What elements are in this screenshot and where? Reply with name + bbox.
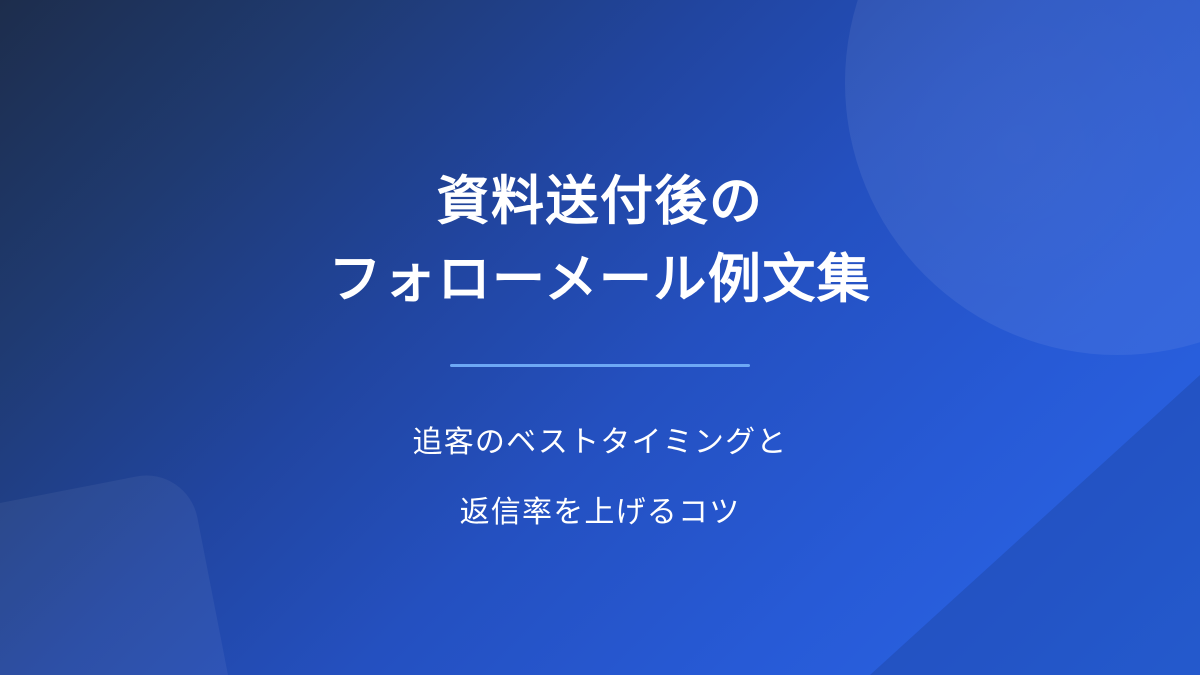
page-title: 資料送付後の フォローメール例文集 <box>329 163 872 319</box>
title-line-1: 資料送付後の <box>436 163 763 241</box>
page-subtitle: 追客のベストタイミングと 返信率を上げるコツ <box>413 408 788 548</box>
title-divider <box>450 364 750 367</box>
title-slide: 資料送付後の フォローメール例文集 追客のベストタイミングと 返信率を上げるコツ <box>0 0 1200 675</box>
slide-content: 資料送付後の フォローメール例文集 追客のベストタイミングと 返信率を上げるコツ <box>0 0 1200 675</box>
subtitle-line-2: 返信率を上げるコツ <box>460 478 741 548</box>
title-line-2: フォローメール例文集 <box>329 241 872 319</box>
subtitle-line-1: 追客のベストタイミングと <box>413 408 788 478</box>
